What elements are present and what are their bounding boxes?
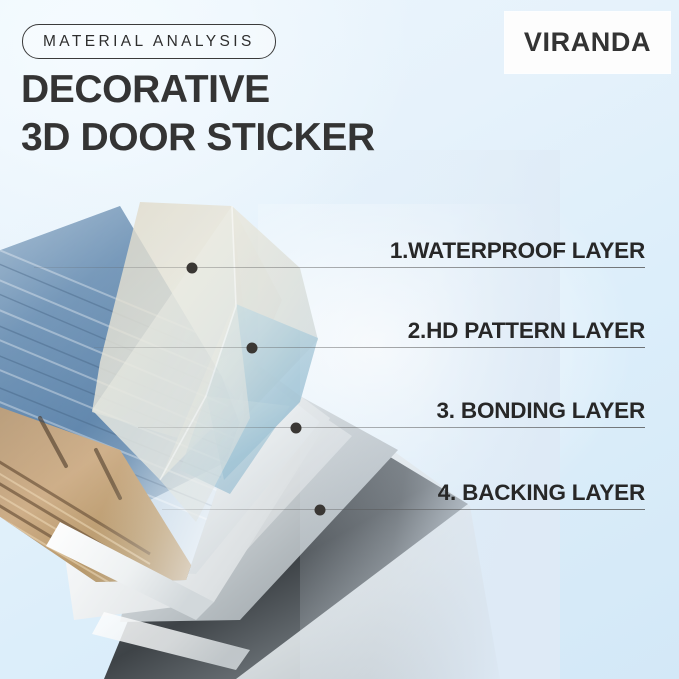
title-line-1: DECORATIVE [21, 68, 270, 111]
callout-leader-line [162, 509, 645, 510]
callout-label: 2.HD PATTERN LAYER [408, 318, 645, 344]
eyebrow-label: MATERIAL ANALYSIS [43, 33, 255, 51]
callout-label: 4. BACKING LAYER [438, 480, 645, 506]
callout-dot [187, 263, 198, 274]
callout-label: 3. BONDING LAYER [436, 398, 645, 424]
callout-leader-line [94, 347, 645, 348]
title-line-2: 3D DOOR STICKER [21, 114, 491, 162]
callout-dot [315, 505, 326, 516]
callout-leader-line [34, 267, 645, 268]
callout-dot [291, 423, 302, 434]
brand-logo: VIRANDA [505, 12, 670, 73]
brand-name: VIRANDA [524, 27, 651, 58]
callout-label: 1.WATERPROOF LAYER [390, 238, 645, 264]
page-title: DECORATIVE 3D DOOR STICKER [21, 66, 491, 162]
callout-dot [247, 343, 258, 354]
eyebrow-badge: MATERIAL ANALYSIS [22, 24, 276, 59]
infographic-canvas: MATERIAL ANALYSIS DECORATIVE 3D DOOR STI… [0, 0, 679, 679]
callout-leader-line [138, 427, 645, 428]
